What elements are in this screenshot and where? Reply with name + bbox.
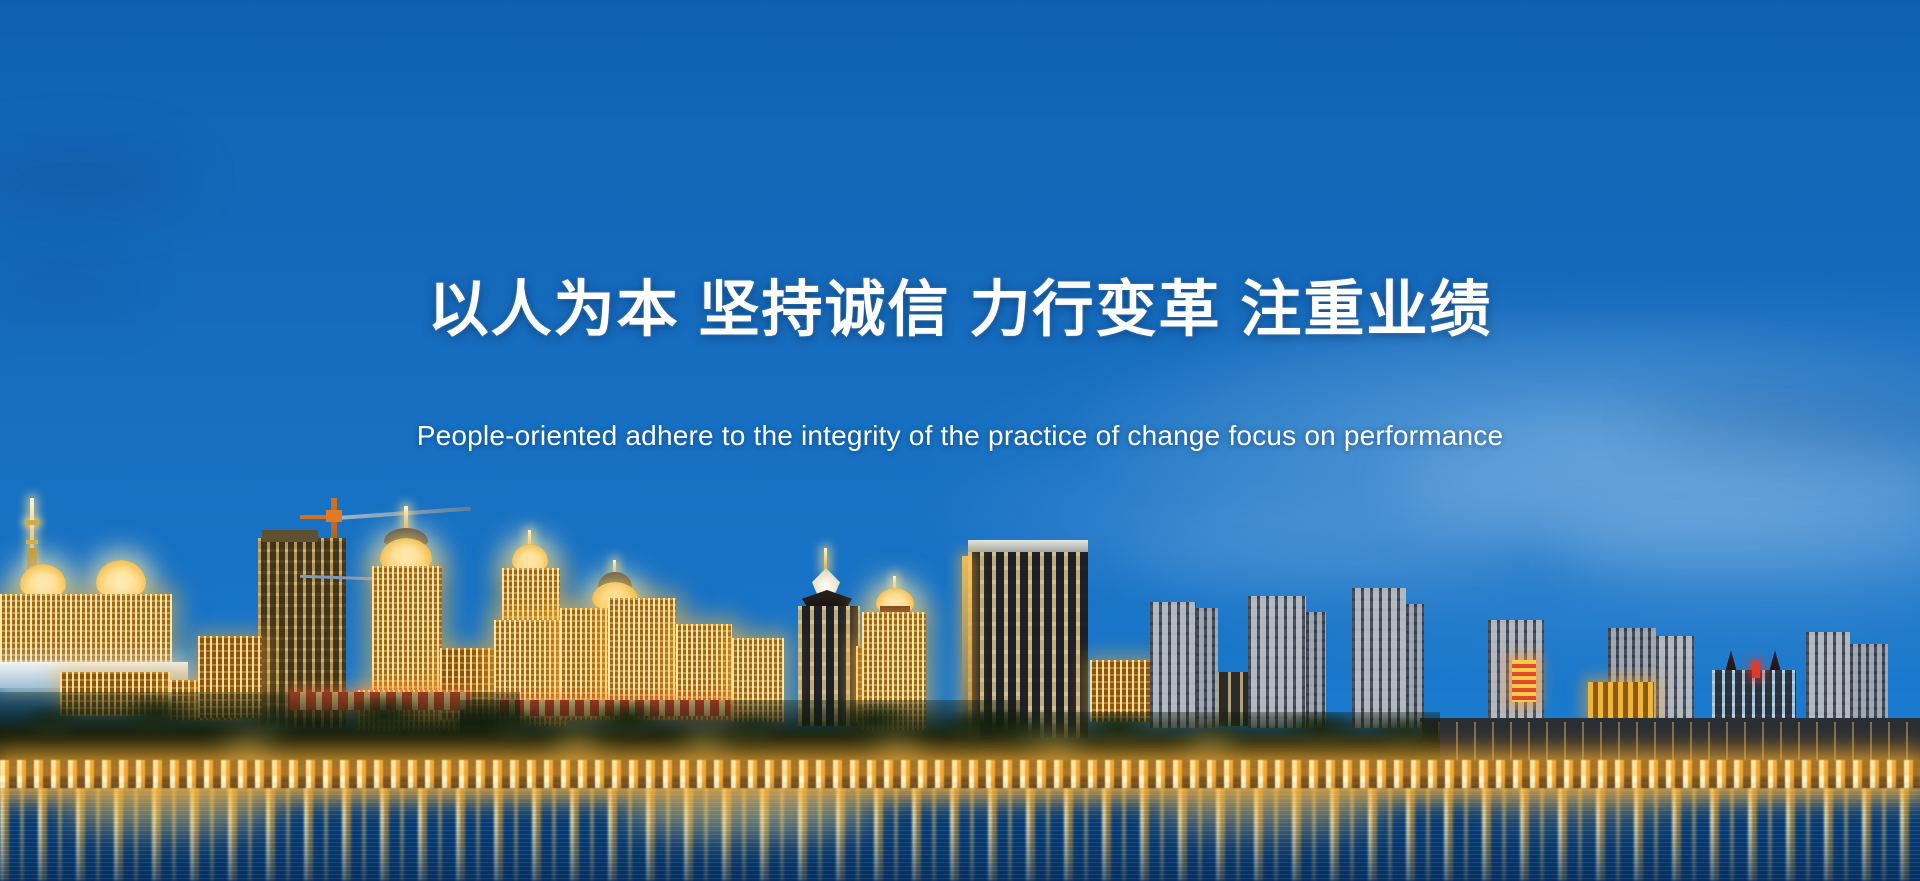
dome-tower-finial [404,506,408,530]
crown-tower-spire [824,548,827,572]
grey-slab-c [1352,588,1406,728]
hero-banner: 以人为本 坚持诚信 力行变革 注重业绩 People-oriented adhe… [0,0,1920,881]
turret-red-sign [1752,662,1760,678]
amber-sign-right [1512,660,1536,702]
grey-slab-h [1850,644,1888,728]
street-lamp-glow-4 [1040,740,1072,760]
tall-tower-upper [502,568,560,624]
amber-block-right [1588,682,1654,718]
street-lamp-glow-1 [560,740,594,762]
street-lamp-glow-5 [1190,742,1224,762]
crane-cab [326,510,342,522]
waterfront-window-lights [1420,722,1920,762]
grey-slab-b2 [1306,612,1326,728]
grey-slab-a [1150,602,1196,728]
riverside-promenade-lights-secondary [0,776,1920,788]
banner-subtitle-english: People-oriented adhere to the integrity … [0,420,1920,452]
tree-embankment-center [460,700,1020,766]
white-dome-left-2 [96,560,146,598]
antenna-collar-2 [26,540,38,544]
antenna-collar [25,520,39,525]
grey-slab-g [1806,632,1850,728]
grey-slab-c2 [1406,604,1424,728]
street-lamp-glow-2 [690,736,720,756]
banner-headline-chinese: 以人为本 坚持诚信 力行变革 注重业绩 [0,277,1920,341]
crown-tower-crown [812,568,840,594]
grey-slab-a2 [1196,608,1218,728]
concrete-tower-cap [262,530,318,542]
grey-slab-b [1248,596,1306,728]
white-dome-left-1 [20,564,66,598]
grey-slab-f [1656,636,1694,728]
